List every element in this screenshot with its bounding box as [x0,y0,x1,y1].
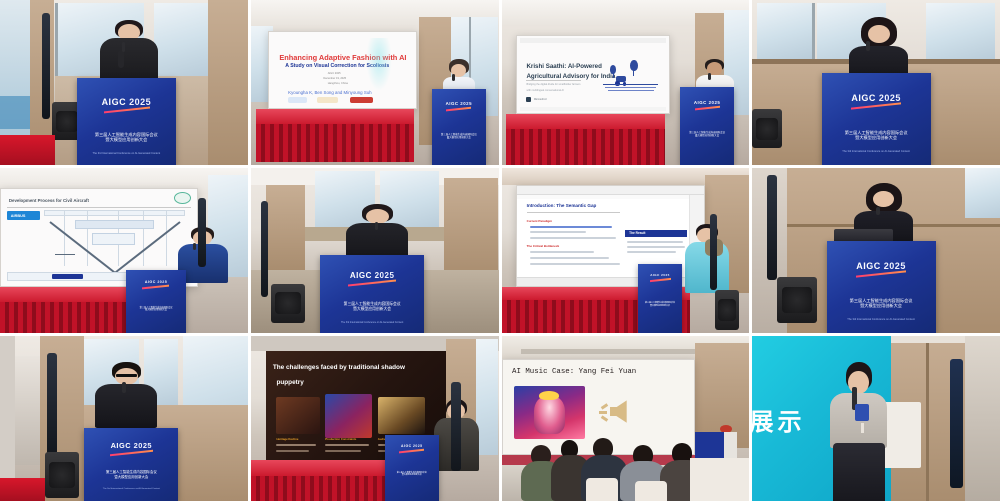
collage-photo-3[interactable]: Krishi Saathi: AI-Powered Agricultural A… [502,0,750,165]
slide-org-logo [174,192,192,205]
podium-cn-line1: 第三届人工智能生成内容国际会议 [95,132,158,137]
collage-photo-6[interactable]: AIGC 2025 第三届人工智能生成内容国际会议 暨大模型应用创新大会 The… [251,168,499,333]
slide-meta-2: December 19, 2025 [323,77,346,80]
slide-logo-microsoft [526,97,531,102]
slide-logo-1 [288,97,307,102]
collage-photo-10[interactable]: The challenges faced by traditional shad… [251,336,499,501]
slide-meta-1: Bridging the digital divide for smallhol… [526,83,580,86]
slide-title: Introduction: The Semantic Gap [527,203,597,208]
collage-photo-8[interactable]: AIGC 2025 第三届人工智能生成内容国际会议 暨大模型应用创新大会 The… [752,168,1000,333]
slide-title: AI Music Case: Yang Fei Yuan [512,368,636,376]
slide-illustration [602,59,660,99]
slide-section-2: The Critical Bottleneck [527,244,560,248]
glasses-icon [116,374,137,377]
slide-title: Krishi Saathi: AI-Powered [526,63,601,70]
slide-image-thumbnail [514,386,585,438]
collage-photo-4[interactable]: AIGC 2025 第三届人工智能生成内容国际会议 暨大模型应用创新大会 The… [752,0,1000,165]
podium-en-line: The 3rd International Conference on AI-G… [81,152,172,155]
collage-photo-7[interactable]: Introduction: The Semantic Gap Current P… [502,168,750,333]
slide-logo-2 [317,97,338,102]
slide-title: 展示 [752,402,805,437]
slide-callout-title: The Result [629,231,645,235]
collage-photo-2[interactable]: Enhancing Adaptive Fashion with AI A Stu… [251,0,499,165]
podium-cn-line2: 暨大模型应用创新大会 [105,137,147,142]
slide-diagram [44,210,185,266]
slide-meta-3: Hangzhou, China [328,82,348,85]
collage-photo-5[interactable]: Development Process for Civil Aircraft A… [0,168,248,333]
slide-meta-1: AIGC 2025 [328,72,341,75]
slide-title: The challenges faced by traditional shad… [273,364,405,371]
slide-section-1: Current Paradigm [527,219,552,223]
slide-title-line2: puppetry [276,379,303,386]
slide-logo-3 [350,97,373,102]
slide-col1-heading: Heritage Decline [276,437,298,441]
slide-col2-heading: Production Constraints [325,437,356,441]
slide-authors: Kyoungha K, Ben Song and Minyoung Suh [288,90,371,95]
collage-photo-12[interactable]: 展示 [752,336,1000,501]
collage-photo-11[interactable]: AI Music Case: Yang Fei Yuan [502,336,750,501]
photo-collage-grid: AIGC 2025 第三届人工智能生成内容国际会议 暨大模型应用创新大会 The… [0,0,1000,501]
collage-photo-9[interactable]: AIGC 2025 第三届人工智能生成内容国际会议 暨大模型应用创新大会 The… [0,336,248,501]
slide-badge-label: AIRBUS [11,214,26,218]
slide-title: Development Process for Civil Aircraft [9,198,89,203]
slide-meta-2: with multilingual conversational AI [526,89,563,92]
speaker-audio-icon [598,399,640,423]
collage-photo-1[interactable]: AIGC 2025 第三届人工智能生成内容国际会议 暨大模型应用创新大会 The… [0,0,248,165]
